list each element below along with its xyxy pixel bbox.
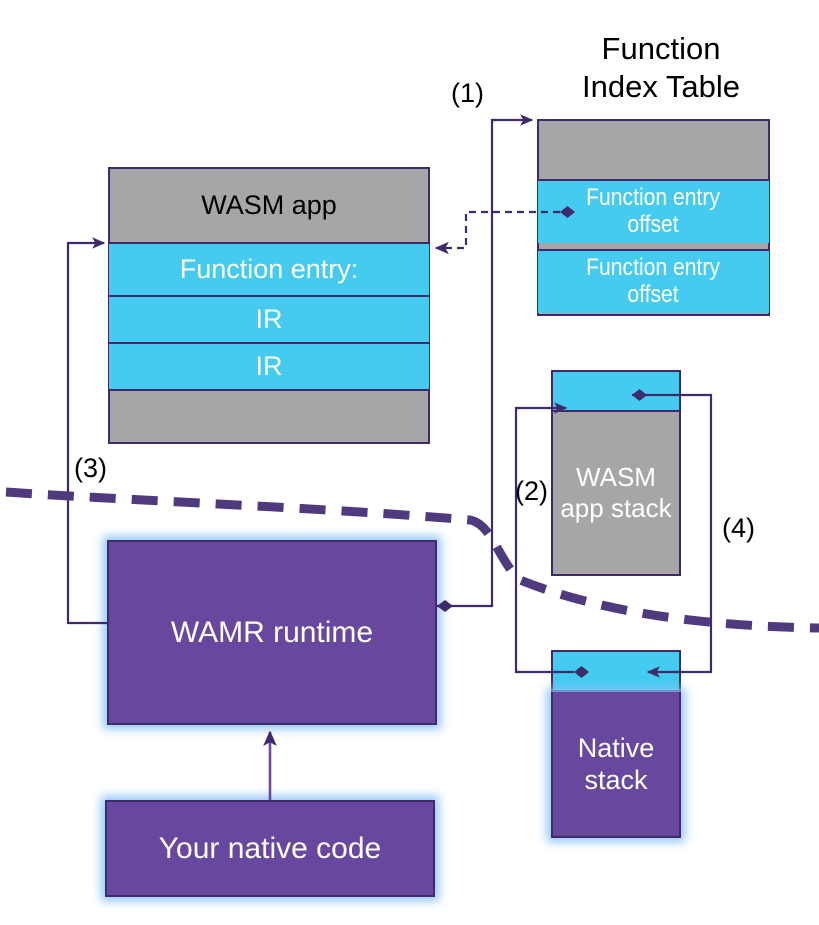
wasm-app-stack-body[interactable]: WASM app stack [551, 412, 681, 576]
function-index-table-header [539, 121, 768, 179]
step-label-1: (1) [451, 80, 484, 107]
wasm-app-footer [110, 391, 428, 442]
wasm-app-row-label: IR [256, 351, 283, 382]
function-index-table-title: Function Index Table [546, 30, 776, 106]
wasm-app-header: WASM app [110, 169, 428, 242]
diagram-canvas: Function Index Table WASM app Function e… [0, 0, 819, 925]
native-stack-top-band[interactable] [551, 650, 681, 692]
native-stack-group: Native stack [551, 650, 681, 838]
wasm-app-stack-top-band[interactable] [551, 370, 681, 412]
wasm-app-stack-group: WASM app stack [551, 370, 681, 576]
wasm-app-row-function-entry[interactable]: Function entry: [109, 242, 429, 297]
function-index-table-entry-label: Function entry offset [587, 255, 721, 309]
wasm-app-header-label: WASM app [201, 190, 337, 221]
your-native-code-label: Your native code [159, 832, 381, 866]
function-index-table-entry-2[interactable]: Function entry offset [538, 249, 769, 313]
wasm-app-row-label: IR [256, 304, 283, 335]
wasm-app-row-ir-2[interactable]: IR [109, 344, 429, 391]
wamr-runtime-label: WAMR runtime [171, 616, 373, 650]
function-index-table-entry-label: Function entry offset [587, 185, 721, 239]
step-label-3: (3) [74, 455, 107, 482]
function-index-table-entry-1[interactable]: Function entry offset [538, 179, 769, 243]
native-stack-body[interactable]: Native stack [551, 692, 681, 838]
step-label-4: (4) [722, 515, 755, 542]
wasm-app-stack-label: WASM app stack [560, 462, 671, 523]
wasm-app-box[interactable]: WASM app Function entry: IR IR [108, 167, 430, 444]
wasm-app-row-label: Function entry: [180, 254, 359, 285]
wamr-runtime-box[interactable]: WAMR runtime [107, 540, 437, 725]
step-label-2: (2) [515, 478, 548, 505]
arrow-1-runtime-to-index-table [437, 120, 532, 612]
native-stack-label: Native stack [578, 732, 655, 797]
wasm-app-row-ir-1[interactable]: IR [109, 297, 429, 344]
diamond-connector-runtime-right [437, 600, 453, 612]
function-index-table-box[interactable]: Function entry offset Function entry off… [537, 119, 770, 316]
your-native-code-box[interactable]: Your native code [105, 800, 435, 897]
arrow-3-runtime-to-function-entry [68, 243, 107, 623]
